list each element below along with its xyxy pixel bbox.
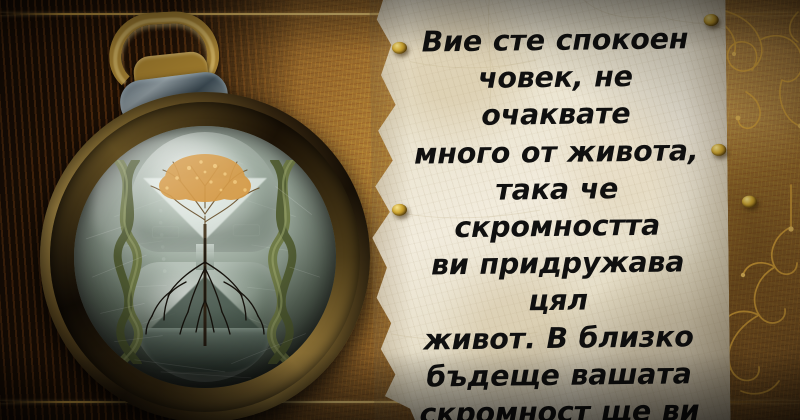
quote-line: живот. В близко	[401, 317, 715, 358]
quote-line: Вие сте спокоен	[398, 20, 712, 61]
quote-line: бъдеще вашата	[402, 355, 716, 396]
watch-crystal	[74, 126, 336, 388]
quote-line: много от живота,	[399, 132, 713, 173]
torn-paper-note: Вие сте спокоен човек, не очаквате много…	[369, 0, 730, 420]
quote-line: така че скромността	[400, 169, 715, 247]
twisted-vine-right-icon	[258, 160, 304, 364]
quote-text: Вие сте спокоен човек, не очаквате много…	[398, 20, 718, 420]
twisted-vine-left-icon	[106, 160, 152, 364]
quote-line: ви придружава цял	[400, 243, 715, 321]
hourglass	[112, 132, 298, 382]
quote-line: човек, не очаквате	[398, 57, 713, 135]
antique-pocket-watch	[14, 4, 384, 420]
watch-case-inner-bezel	[50, 102, 360, 412]
watch-case	[40, 92, 370, 420]
quote-line: скромност ще ви	[402, 392, 716, 420]
quote-card: Вие сте спокоен човек, не очаквате много…	[0, 0, 800, 420]
